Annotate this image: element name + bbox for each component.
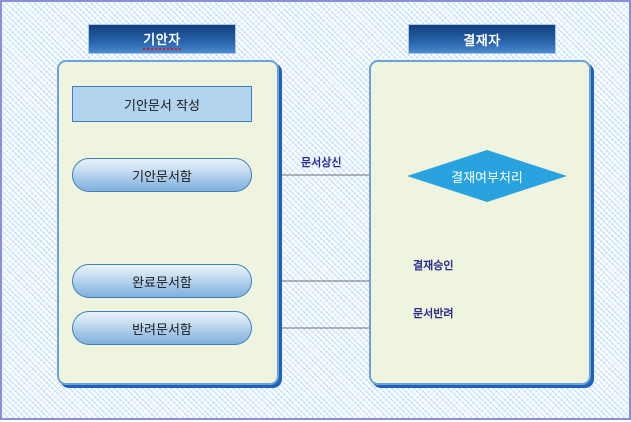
node-done-box-label: 완료문서함 (132, 272, 192, 291)
edge-label-submit: 문서상신 (301, 154, 341, 170)
node-draft-write[interactable]: 기안문서 작성 (72, 86, 252, 122)
node-draft-box[interactable]: 기안문서함 (72, 158, 252, 192)
edge-label-approve: 결재승인 (413, 257, 453, 273)
lane-header-approver-label: 결재자 (463, 30, 500, 49)
lane-body-approver (369, 60, 591, 385)
node-draft-write-label: 기안문서 작성 (124, 95, 200, 114)
lane-header-approver: 결재자 (408, 24, 556, 54)
lane-header-drafter: 기안자 (88, 24, 236, 54)
node-draft-box-label: 기안문서함 (132, 166, 192, 185)
edge-label-reject: 문서반려 (413, 305, 453, 321)
node-reject-box-label: 반려문서함 (132, 319, 192, 338)
node-done-box[interactable]: 완료문서함 (72, 264, 252, 298)
node-reject-box[interactable]: 반려문서함 (72, 311, 252, 345)
node-decision[interactable]: 결재여부처리 (407, 150, 567, 202)
lane-header-drafter-label: 기안자 (143, 29, 180, 50)
node-decision-label: 결재여부처리 (407, 150, 567, 202)
diagram-canvas: 기안자 결재자 기안문서 작성 기안문서함 완료문서함 반려문서함 결재여부처리… (0, 0, 631, 420)
